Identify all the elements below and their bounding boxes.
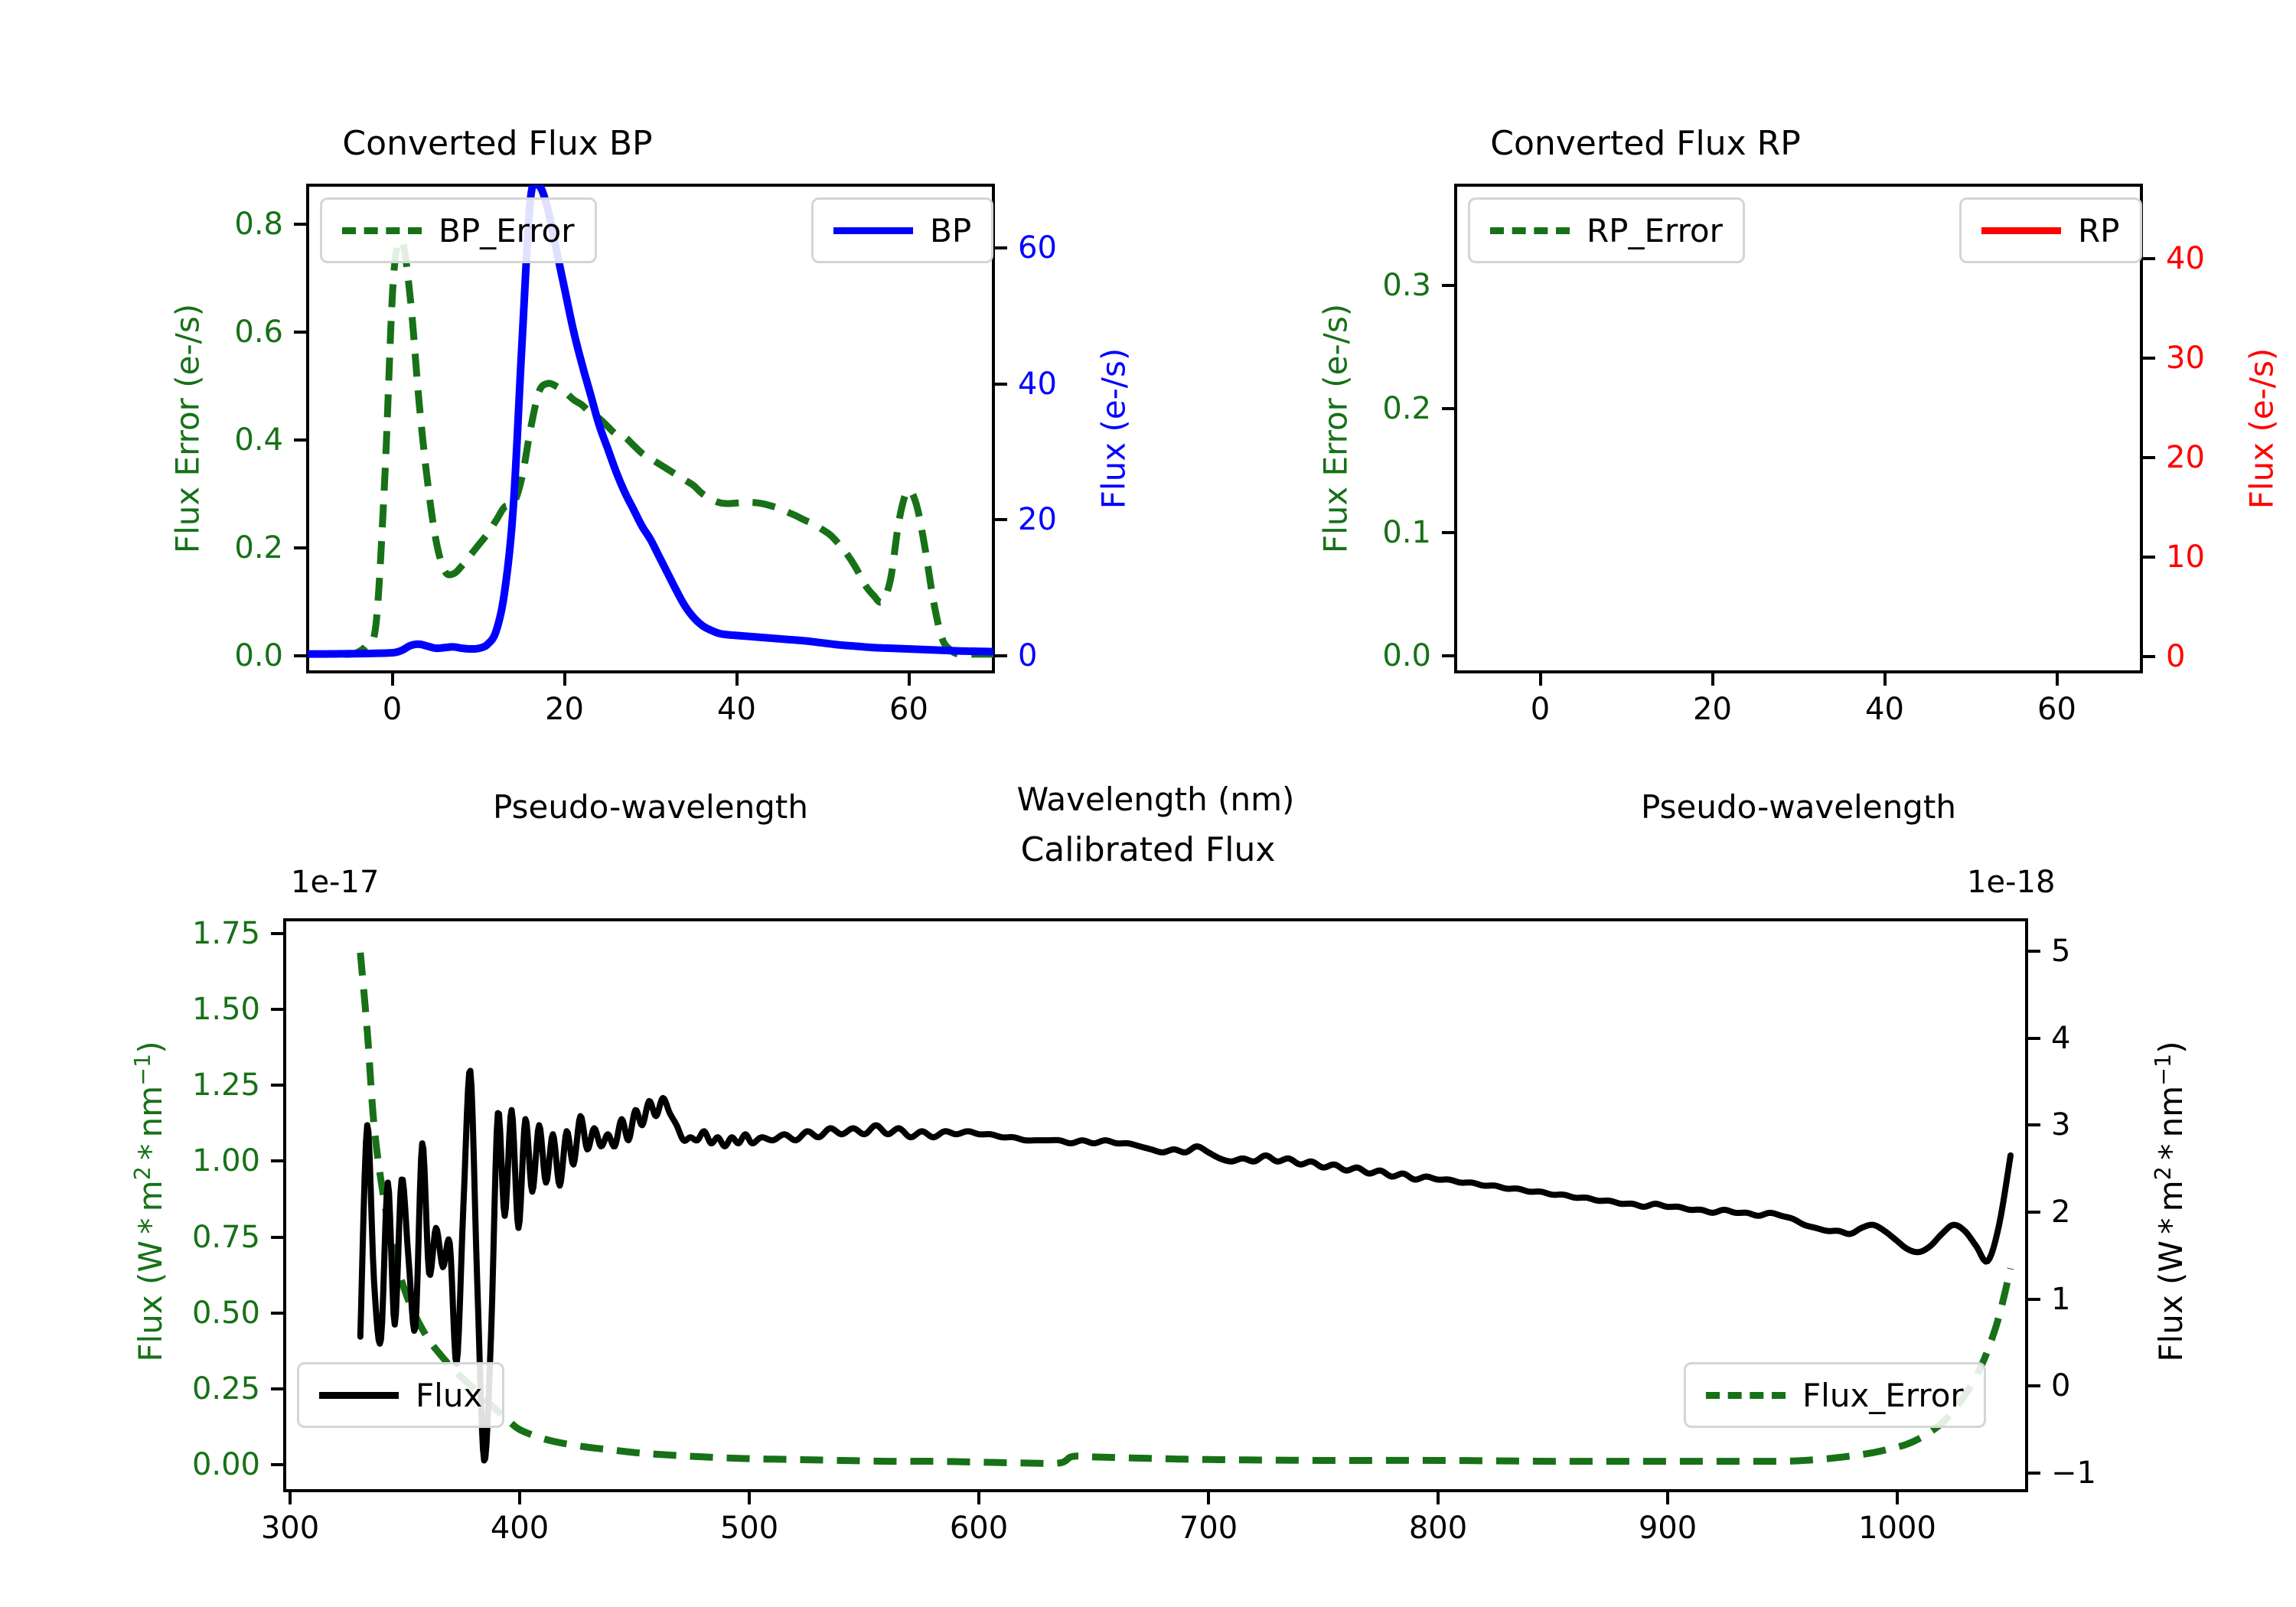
tick-label: 40 xyxy=(2166,241,2205,276)
rp-xlabel: Pseudo-wavelength xyxy=(1641,788,1956,826)
tick-mark xyxy=(289,1492,292,1504)
tick-mark xyxy=(271,1236,283,1239)
calibrated-ylabel-right: Flux (W * m2 * nm−1) xyxy=(2150,1041,2190,1361)
tick-mark xyxy=(294,438,306,442)
tick-label: 1 xyxy=(2051,1282,2070,1317)
tick-label: −1 xyxy=(2051,1455,2096,1491)
tick-mark xyxy=(1883,673,1887,686)
tick-label: 30 xyxy=(2166,341,2205,376)
bp-ylabel-left: Flux Error (e-/s) xyxy=(169,304,207,553)
tick-mark xyxy=(294,654,306,657)
panel-converted-flux-bp: Converted Flux BP 0.00.20.40.60.8 Flux E… xyxy=(0,0,1148,842)
tick-label: 1.25 xyxy=(192,1068,260,1103)
tick-label: 40 xyxy=(1018,367,1057,402)
tick-mark xyxy=(995,246,1007,249)
tick-mark xyxy=(2143,257,2155,260)
rp-error-legend-swatch xyxy=(1490,227,1570,234)
tick-mark xyxy=(271,1008,283,1011)
tick-label: 0.4 xyxy=(234,422,283,458)
tick-mark xyxy=(271,1159,283,1162)
calibrated-xlabel: Wavelength (nm) xyxy=(1017,781,1295,818)
tick-mark xyxy=(2028,1384,2040,1387)
tick-mark xyxy=(271,1312,283,1315)
tick-label: 0.0 xyxy=(1382,638,1431,673)
tick-mark xyxy=(995,383,1007,386)
tick-mark xyxy=(1711,673,1714,686)
tick-label: 0.2 xyxy=(1382,391,1431,426)
tick-label: 5 xyxy=(2051,934,2070,969)
tick-mark xyxy=(1896,1492,1899,1504)
rp-ylabel-left: Flux Error (e-/s) xyxy=(1317,304,1355,553)
rp-panel-title: Converted Flux RP xyxy=(1454,124,1837,163)
calibrated-legend-error[interactable]: Flux_Error xyxy=(1684,1362,1986,1428)
tick-mark xyxy=(748,1492,751,1504)
tick-label: 0 xyxy=(383,692,402,727)
rp-flux-legend-swatch xyxy=(1981,227,2061,234)
tick-mark xyxy=(518,1492,521,1504)
tick-mark xyxy=(2143,556,2155,559)
tick-label: 0.75 xyxy=(192,1220,260,1255)
tick-mark xyxy=(2028,1037,2040,1040)
bp-error-curve xyxy=(308,240,993,654)
tick-mark xyxy=(271,1387,283,1390)
tick-mark xyxy=(2143,655,2155,658)
tick-label: 20 xyxy=(545,692,584,727)
tick-label: 0 xyxy=(2051,1368,2070,1403)
rp-legend-flux[interactable]: RP xyxy=(1959,197,2142,263)
bp-error-legend-label: BP_Error xyxy=(439,212,575,249)
tick-label: 0 xyxy=(1531,692,1550,727)
tick-label: 60 xyxy=(2037,692,2076,727)
tick-mark xyxy=(1442,284,1454,287)
calibrated-flux-legend-swatch xyxy=(319,1392,399,1399)
rp-ylabel-right: Flux (e-/s) xyxy=(2243,348,2281,509)
bp-legend-flux[interactable]: BP xyxy=(811,197,993,263)
tick-label: 60 xyxy=(889,692,928,727)
tick-mark xyxy=(271,932,283,935)
panel-converted-flux-rp: Converted Flux RP 0.00.10.20.3 Flux Erro… xyxy=(1148,0,2296,842)
tick-mark xyxy=(1207,1492,1210,1504)
rp-legend-error[interactable]: RP_Error xyxy=(1468,197,1745,263)
tick-label: 4 xyxy=(2051,1021,2070,1056)
tick-label: 0.0 xyxy=(234,638,283,673)
tick-mark xyxy=(1539,673,1542,686)
tick-label: 0.25 xyxy=(192,1371,260,1407)
tick-mark xyxy=(271,1084,283,1087)
tick-label: 20 xyxy=(2166,440,2205,475)
tick-mark xyxy=(995,518,1007,521)
tick-label: 1000 xyxy=(1858,1511,1936,1546)
calibrated-legend-flux[interactable]: Flux xyxy=(297,1362,504,1428)
tick-label: 20 xyxy=(1018,502,1057,537)
tick-mark xyxy=(1442,654,1454,657)
calibrated-ylabel-right-text: Flux (W * m2 * nm−1) xyxy=(2152,1041,2190,1361)
calibrated-right-offset-text: 1e-18 xyxy=(1967,865,2055,900)
tick-label: 0.00 xyxy=(192,1447,260,1482)
calibrated-ylabel-left-text: Flux (W * m2 * nm−1) xyxy=(132,1041,169,1361)
tick-mark xyxy=(2028,950,2040,953)
tick-mark xyxy=(271,1463,283,1466)
tick-mark xyxy=(1442,531,1454,534)
tick-mark xyxy=(2143,456,2155,459)
tick-mark xyxy=(2028,1123,2040,1126)
tick-mark xyxy=(2143,357,2155,360)
calibrated-flux-legend-label: Flux xyxy=(416,1377,482,1414)
tick-label: 10 xyxy=(2166,539,2205,575)
tick-label: 20 xyxy=(1693,692,1732,727)
panel-calibrated-flux: Calibrated Flux 1e-17 1e-18 0.000.250.50… xyxy=(0,842,2296,1607)
tick-mark xyxy=(2028,1472,2040,1475)
tick-label: 40 xyxy=(1865,692,1904,727)
bp-ylabel-right: Flux (e-/s) xyxy=(1095,348,1133,509)
tick-label: 0.3 xyxy=(1382,268,1431,303)
tick-mark xyxy=(294,331,306,334)
tick-label: 0.2 xyxy=(234,530,283,566)
tick-label: 0.1 xyxy=(1382,515,1431,550)
tick-mark xyxy=(995,654,1007,657)
tick-label: 500 xyxy=(720,1511,778,1546)
tick-mark xyxy=(2028,1298,2040,1301)
tick-label: 1.75 xyxy=(192,916,260,951)
tick-mark xyxy=(391,673,394,686)
tick-label: 800 xyxy=(1409,1511,1467,1546)
tick-label: 600 xyxy=(950,1511,1008,1546)
tick-label: 60 xyxy=(1018,230,1057,266)
tick-label: 3 xyxy=(2051,1107,2070,1143)
tick-label: 0.8 xyxy=(234,207,283,242)
rp-error-legend-label: RP_Error xyxy=(1587,212,1723,249)
rp-flux-legend-label: RP xyxy=(2078,212,2120,249)
tick-mark xyxy=(1442,407,1454,410)
tick-mark xyxy=(908,673,911,686)
tick-label: 0.6 xyxy=(234,315,283,350)
tick-label: 0 xyxy=(1018,638,1037,673)
bp-flux-legend-label: BP xyxy=(930,212,971,249)
tick-mark xyxy=(2056,673,2059,686)
tick-label: 2 xyxy=(2051,1195,2070,1230)
calibrated-error-legend-label: Flux_Error xyxy=(1802,1377,1964,1414)
tick-mark xyxy=(735,673,739,686)
tick-mark xyxy=(563,673,566,686)
tick-mark xyxy=(1666,1492,1669,1504)
bp-error-legend-swatch xyxy=(342,227,422,234)
tick-label: 0 xyxy=(2166,639,2185,674)
tick-mark xyxy=(294,223,306,226)
bp-flux-legend-swatch xyxy=(833,227,913,234)
tick-label: 1.00 xyxy=(192,1143,260,1178)
tick-label: 900 xyxy=(1639,1511,1697,1546)
tick-mark xyxy=(2028,1211,2040,1214)
calibrated-panel-title: Calibrated Flux xyxy=(880,830,1416,869)
tick-label: 300 xyxy=(261,1511,319,1546)
tick-mark xyxy=(1437,1492,1440,1504)
tick-label: 700 xyxy=(1179,1511,1238,1546)
tick-label: 400 xyxy=(491,1511,549,1546)
figure-canvas: Converted Flux BP 0.00.20.40.60.8 Flux E… xyxy=(0,0,2296,1607)
tick-label: 1.50 xyxy=(192,992,260,1027)
calibrated-error-legend-swatch xyxy=(1706,1392,1786,1399)
bp-panel-title: Converted Flux BP xyxy=(306,124,689,163)
tick-mark xyxy=(977,1492,980,1504)
bp-xlabel: Pseudo-wavelength xyxy=(493,788,808,826)
tick-mark xyxy=(294,546,306,549)
tick-label: 40 xyxy=(717,692,756,727)
calibrated-ylabel-left: Flux (W * m2 * nm−1) xyxy=(129,1041,169,1361)
bp-legend-error[interactable]: BP_Error xyxy=(320,197,597,263)
tick-label: 0.50 xyxy=(192,1296,260,1331)
calibrated-left-offset-text: 1e-17 xyxy=(291,865,379,900)
